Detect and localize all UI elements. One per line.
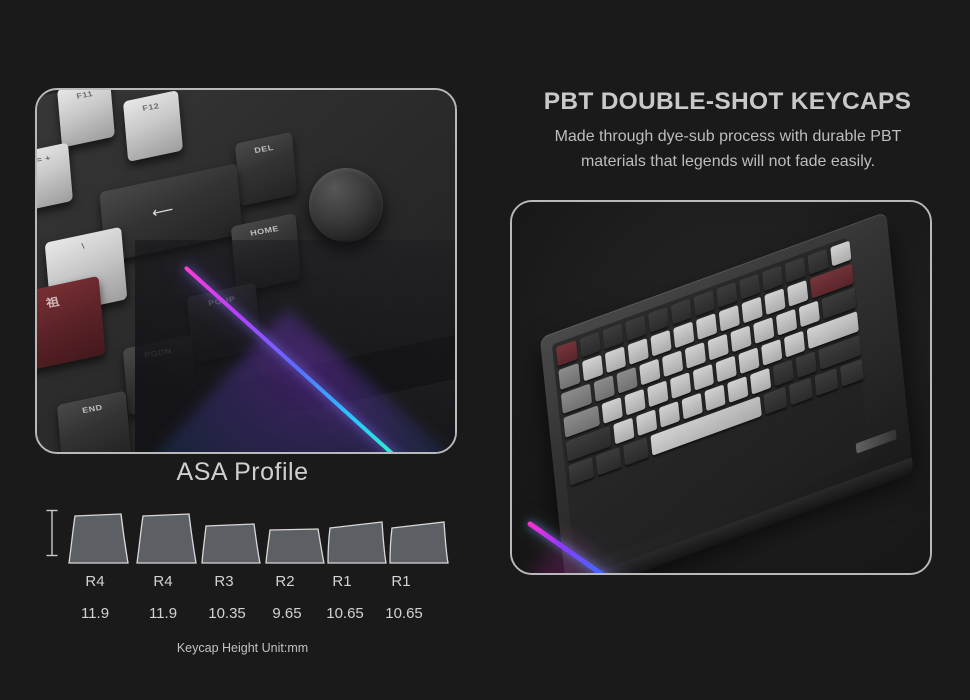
keycap-5	[673, 321, 694, 348]
keycap-a	[602, 397, 623, 424]
keycap-j	[738, 347, 759, 374]
keycap-arrow	[840, 359, 864, 387]
left-column: F11 F12 = + DEL ⟵ \ HOME 祖 PGUP PGDN END…	[0, 0, 485, 700]
keycap-u	[730, 325, 751, 352]
feature-subtitle: Made through dye-sub process with durabl…	[523, 124, 933, 174]
keycap-f8	[739, 274, 760, 300]
keycap-8	[742, 297, 763, 324]
height-value-1: 11.9	[149, 605, 177, 622]
keycap-f9	[762, 265, 783, 291]
keycap-comma	[773, 360, 794, 387]
keycap-l	[784, 331, 805, 358]
keycap-f11-small	[807, 249, 828, 275]
keycap-n	[727, 376, 748, 403]
keycap-rctrl	[814, 368, 838, 396]
keycap-win	[596, 447, 622, 476]
keycap-f12-legend: F12	[142, 101, 161, 112]
keycap-f2	[602, 323, 623, 349]
keycap-x	[636, 409, 657, 436]
keycap-profile-r3	[200, 522, 262, 565]
keycap-v	[682, 393, 703, 420]
keycap-d	[647, 380, 668, 407]
profile-row-labels: R4 R4 R3 R2 R1 R1	[0, 573, 485, 597]
keycap-tilde	[558, 363, 580, 390]
keycap-f6	[694, 290, 715, 316]
keycap-h	[716, 356, 737, 383]
keycap-w	[616, 367, 637, 394]
keycap-f3	[625, 315, 646, 341]
profile-keycap-diagram	[0, 503, 485, 565]
keycap-t	[685, 342, 706, 369]
keycap-0	[787, 280, 808, 307]
height-value-4: 10.65	[326, 605, 364, 622]
keycap-equals: = +	[35, 142, 73, 211]
keycap-y	[708, 334, 729, 361]
keycap-b	[704, 384, 725, 411]
asa-profile-section: ASA Profile	[0, 458, 485, 655]
keycap-7	[719, 305, 740, 332]
profile-unit-caption: Keycap Height Unit:mm	[0, 641, 485, 655]
keycap-del-legend: DEL	[254, 143, 275, 155]
row-label-3: R2	[275, 573, 294, 590]
closeup-photo-image: F11 F12 = + DEL ⟵ \ HOME 祖 PGUP PGDN END	[37, 90, 455, 452]
keycap-fn	[789, 377, 813, 405]
keycap-f7	[716, 282, 737, 308]
keycap-profile-r2	[264, 526, 326, 565]
keycap-alt	[623, 437, 649, 466]
height-value-0: 11.9	[81, 605, 109, 622]
right-column: PBT DOUBLE-SHOT KEYCAPS Made through dye…	[485, 0, 970, 700]
keycap-2	[605, 346, 626, 373]
keycap-profile-r1-b	[388, 520, 450, 565]
keycap-profile-r4-a	[66, 513, 130, 565]
keycap-f12-small	[830, 241, 851, 267]
keycap-f4	[648, 307, 669, 333]
keycap-s	[624, 389, 645, 416]
keycap-del: DEL	[235, 132, 297, 206]
keyboard-render	[540, 212, 912, 575]
keycap-backslash-legend: \	[81, 242, 86, 251]
keycap-g	[693, 364, 714, 391]
keycap-1	[582, 355, 603, 382]
keycap-4	[650, 330, 671, 357]
feature-heading: PBT DOUBLE-SHOT KEYCAPS	[485, 88, 970, 116]
height-value-3: 9.65	[272, 605, 301, 622]
profile-title: ASA Profile	[0, 458, 485, 487]
rotary-knob	[309, 168, 383, 242]
row-label-0: R4	[85, 573, 104, 590]
keycap-home-legend: HOME	[249, 224, 280, 237]
keycap-profile-r4-b	[134, 513, 198, 565]
height-bracket-icon	[44, 509, 60, 557]
keycap-period	[796, 351, 817, 378]
keycap-ctrl	[568, 457, 594, 486]
height-value-2: 10.35	[208, 605, 246, 622]
keycap-equals-legend: = +	[35, 154, 51, 165]
keycap-k	[761, 339, 782, 366]
keycap-f1	[580, 332, 601, 358]
keycap-6	[696, 313, 717, 340]
keycap-i	[753, 317, 774, 344]
keycap-ralt	[763, 387, 787, 415]
keycap-m	[750, 368, 771, 395]
keyboard-photo-panel	[510, 200, 932, 575]
keyboard-photo-image	[512, 202, 930, 573]
keycap-accent-legend: 祖	[44, 292, 61, 310]
keycap-r	[662, 350, 683, 377]
keycap-esc	[556, 340, 578, 366]
keycap-z	[613, 418, 634, 445]
row-label-5: R1	[391, 573, 410, 590]
keycap-f5	[671, 299, 692, 325]
keycap-c	[659, 401, 680, 428]
row-label-2: R3	[214, 573, 233, 590]
closeup-photo-panel: F11 F12 = + DEL ⟵ \ HOME 祖 PGUP PGDN END	[35, 88, 457, 454]
keycap-end-legend: END	[81, 403, 103, 415]
keycap-f11-legend: F11	[75, 89, 93, 100]
keycap-e	[639, 359, 660, 386]
keycap-f10	[785, 257, 806, 283]
keycap-f12: F12	[123, 90, 183, 162]
height-value-5: 10.65	[385, 605, 423, 622]
keycap-9	[764, 288, 785, 315]
keycap-o	[776, 309, 797, 336]
keycap-q	[594, 375, 615, 402]
keycap-p	[799, 301, 820, 328]
profile-height-values: 11.9 11.9 10.35 9.65 10.65 10.65	[0, 605, 485, 629]
row-label-4: R1	[332, 573, 351, 590]
keycap-profile-r1-a	[326, 520, 388, 565]
keycap-f	[670, 372, 691, 399]
row-label-1: R4	[153, 573, 172, 590]
keycap-3	[628, 338, 649, 365]
